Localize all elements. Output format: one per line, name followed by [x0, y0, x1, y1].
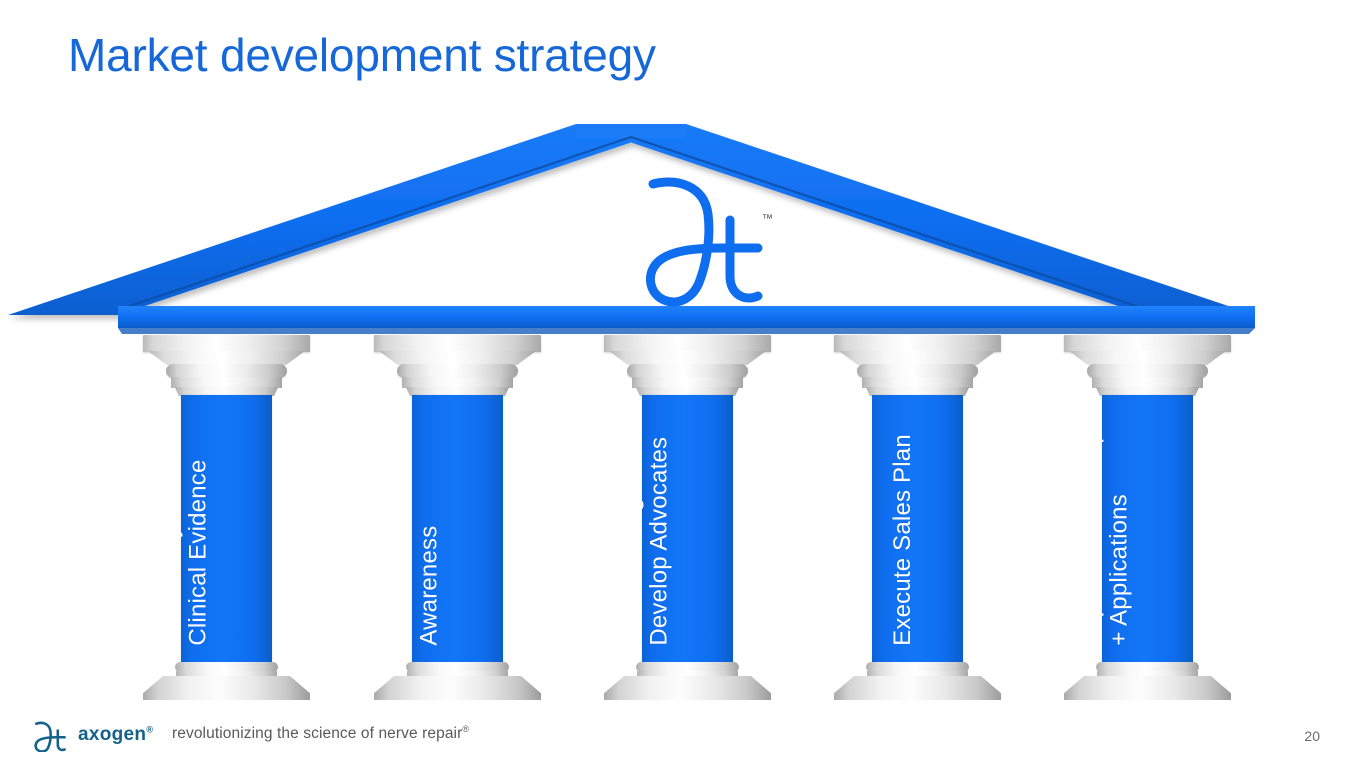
capital-neck-top — [1092, 377, 1202, 388]
slide: Market development strategy — [0, 0, 1365, 768]
column-build-market-awareness[interactable]: Build Market Awareness — [374, 335, 541, 700]
capital-neck-top — [862, 377, 972, 388]
pediment-roof: ™ — [0, 110, 1365, 340]
capital-echinus — [166, 364, 286, 378]
column-label: Build Market Awareness — [412, 510, 443, 646]
footer-tagline-registered-mark: ® — [462, 724, 469, 734]
column-shaft: Educate Surgeons, Develop Advocates — [642, 395, 732, 662]
capital-abacus — [604, 335, 771, 352]
column-label: Expand Product Pipeline + Applications — [1102, 395, 1133, 646]
column-educate-surgeons-develop-advocates[interactable]: Educate Surgeons, Develop Advocates — [604, 335, 771, 700]
capital-echinus — [627, 364, 747, 378]
capital-echinus — [397, 364, 517, 378]
column-label: Grow Body of Clinical Evidence — [181, 460, 212, 646]
base-plinth — [604, 676, 771, 700]
pediment-bevel-line — [118, 137, 1148, 310]
column-shaft: Build Market Awareness — [412, 395, 502, 662]
base-plinth — [1064, 676, 1231, 700]
capital-flare — [148, 351, 305, 365]
axogen-monogram-icon — [650, 182, 758, 302]
slide-footer: axogen® revolutionizing the science of n… — [0, 708, 1365, 768]
column-shaft: Execute Sales Plan — [872, 395, 962, 662]
capital-flare — [839, 351, 996, 365]
capital-echinus — [857, 364, 977, 378]
axogen-monogram-icon — [30, 718, 72, 752]
column-grow-body-of-clinical-evidence[interactable]: Grow Body of Clinical Evidence — [143, 335, 310, 700]
axogen-wordmark: axogen® — [78, 724, 153, 746]
column-label: Execute Sales Plan — [890, 434, 918, 646]
capital-neck-top — [402, 377, 512, 388]
architrave-bar — [118, 306, 1255, 328]
capital-flare — [609, 351, 766, 365]
capital-echinus — [1087, 364, 1207, 378]
architrave-underbevel — [118, 328, 1255, 334]
capital-abacus — [1064, 335, 1231, 352]
pediment-gable — [8, 124, 1255, 315]
footer-tagline: revolutionizing the science of nerve rep… — [172, 724, 469, 743]
column-shaft: Grow Body of Clinical Evidence — [181, 395, 271, 662]
base-plinth — [374, 676, 541, 700]
column-execute-sales-plan[interactable]: Execute Sales Plan — [834, 335, 1001, 700]
capital-neck-top — [171, 377, 281, 388]
base-plinth — [143, 676, 310, 700]
capital-flare — [1069, 351, 1226, 365]
footer-tagline-text: revolutionizing the science of nerve rep… — [172, 725, 462, 742]
axogen-wordmark-text: axogen — [78, 724, 146, 745]
monogram-trademark: ™ — [762, 213, 773, 225]
capital-neck-top — [632, 377, 742, 388]
base-plinth — [834, 676, 1001, 700]
axogen-logo: axogen® — [30, 718, 153, 752]
axogen-wordmark-registered-mark: ® — [146, 725, 153, 735]
column-label: Educate Surgeons, Develop Advocates — [642, 437, 673, 646]
page-title: Market development strategy — [68, 28, 656, 82]
temple-diagram: ™ Grow Body of Clinical Evidence — [0, 110, 1365, 700]
capital-flare — [379, 351, 536, 365]
page-number: 20 — [1304, 728, 1320, 744]
capital-abacus — [834, 335, 1001, 352]
column-expand-product-pipeline[interactable]: Expand Product Pipeline + Applications — [1064, 335, 1231, 700]
capital-abacus — [374, 335, 541, 352]
column-shaft: Expand Product Pipeline + Applications — [1102, 395, 1192, 662]
capital-abacus — [143, 335, 310, 352]
